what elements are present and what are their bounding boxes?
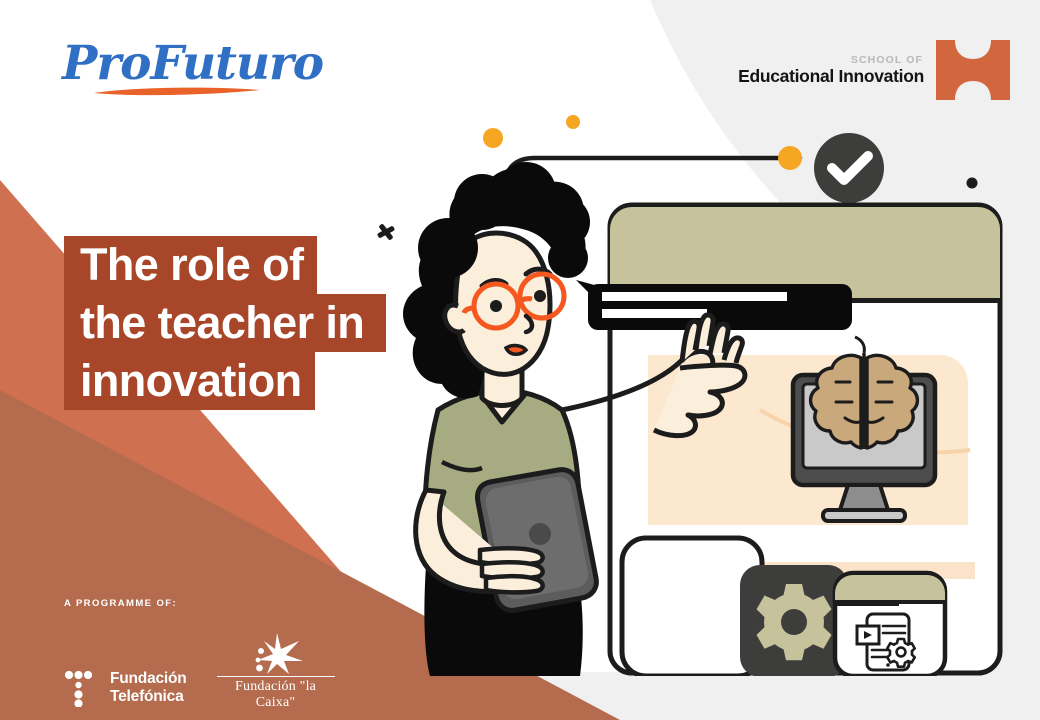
school-of-educational-innovation-logo: SCHOOL OF Educational Innovation xyxy=(738,40,1010,100)
telefonica-wordmark: Fundación Telefónica xyxy=(110,670,187,706)
title-line-1: The role of xyxy=(64,236,317,294)
profuturo-wordmark: ProFuturo xyxy=(62,38,277,90)
illustration-canvas xyxy=(330,110,1040,676)
check-badge-icon xyxy=(814,133,884,203)
school-badge-name: Educational Innovation xyxy=(738,68,924,86)
programme-label: A PROGRAMME OF: xyxy=(64,598,335,609)
gear-tile xyxy=(740,565,848,676)
fingers xyxy=(480,548,543,592)
school-x-mark-icon xyxy=(936,40,1010,100)
phone-media-settings-icon xyxy=(857,614,915,670)
la-caixa-wordmark: Fundación "la Caixa" xyxy=(217,679,335,711)
telefonica-dots-icon xyxy=(64,669,100,707)
sparkle-x-icon xyxy=(376,223,396,242)
title-line-3: innovation xyxy=(64,352,315,410)
telefonica-line-1: Fundación xyxy=(110,670,187,688)
cover-page: ProFuturo SCHOOL OF Educational Innovati… xyxy=(0,0,1040,720)
programme-credits: A PROGRAMME OF: Fundación Telefónica xyxy=(64,598,335,707)
phone-media-card xyxy=(835,573,945,676)
black-dot-right xyxy=(967,178,978,189)
orange-dot-medium xyxy=(483,128,503,148)
fundacion-la-caixa-logo: Fundación "la Caixa" xyxy=(217,631,335,711)
school-badge-text: SCHOOL OF Educational Innovation xyxy=(738,55,924,86)
programme-logos: Fundación Telefónica Fundación "la Caixa… xyxy=(64,631,335,707)
la-caixa-rule xyxy=(217,676,335,677)
fundacion-telefonica-logo: Fundación Telefónica xyxy=(64,669,187,707)
orange-dot-large xyxy=(778,146,802,170)
school-badge-eyebrow: SCHOOL OF xyxy=(738,55,923,66)
profuturo-swoosh-underline xyxy=(92,86,262,97)
telefonica-line-2: Telefónica xyxy=(110,688,187,706)
la-caixa-star-icon xyxy=(217,631,335,675)
orange-dot-small xyxy=(566,115,580,129)
profuturo-logo: ProFuturo xyxy=(62,38,277,100)
teacher-illustration xyxy=(330,110,1040,676)
